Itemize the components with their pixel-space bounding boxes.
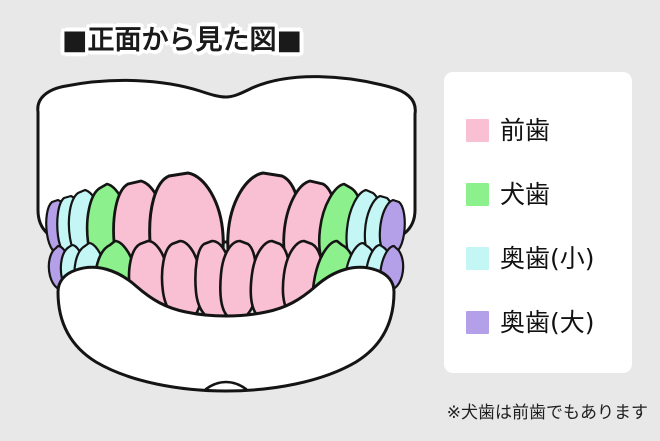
legend-item-incisors[interactable]: 前歯 (444, 108, 632, 152)
legend-swatch-premolars (466, 247, 489, 270)
legend-swatch-molars (466, 311, 489, 334)
legend-label-molars: 奥歯(大) (500, 309, 595, 336)
lower-jaw (49, 241, 403, 391)
legend-item-canines[interactable]: 犬歯 (444, 172, 632, 216)
legend-label-incisors: 前歯 (500, 117, 550, 144)
legend-panel: 前歯 犬歯 奥歯(小) 奥歯(大) (444, 72, 632, 373)
legend-swatch-canines (466, 183, 489, 206)
legend-swatch-incisors (466, 119, 489, 142)
legend-item-premolars[interactable]: 奥歯(小) (444, 236, 632, 280)
figure-canvas: ■正面から見た図■ (0, 0, 660, 441)
page-title: ■正面から見た図■ (62, 24, 302, 58)
legend-item-molars[interactable]: 奥歯(大) (444, 300, 632, 344)
legend-label-canines: 犬歯 (500, 181, 550, 208)
front-view-teeth-illustration (0, 60, 450, 400)
footnote-text: ※犬歯は前歯でもあります (447, 402, 648, 424)
legend-label-premolars: 奥歯(小) (500, 245, 595, 272)
